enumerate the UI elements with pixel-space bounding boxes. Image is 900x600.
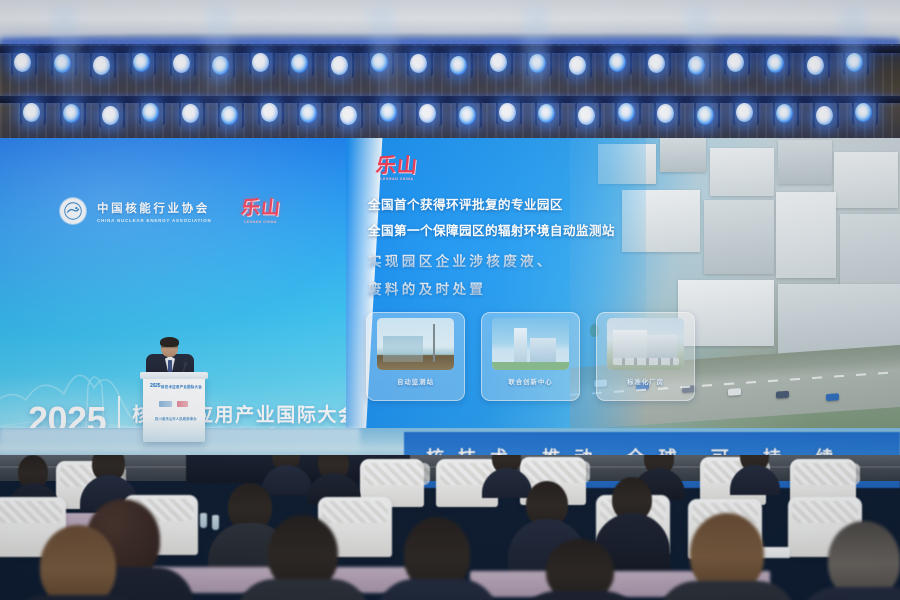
podium-and-speaker: 2025 核技术应用产业国际大会 四川省乐山市人民政府承办 [128, 338, 224, 442]
truss-bar-lower [0, 96, 900, 103]
stage-lamp [142, 103, 159, 122]
lectern-logo-leshan [177, 401, 188, 407]
leshan-logo-cn: 乐山 [240, 199, 282, 218]
thumbnail-image-monitoring-station [377, 318, 454, 370]
right-led-screen-slide: 乐山 LESHAN CHINA 全国首个获得环评批复的专业园区 全国第一个保障园… [346, 138, 900, 430]
stage-lamp [133, 53, 150, 72]
stage-lamp [93, 56, 110, 75]
thumbnail-caption: 标准化厂房 [627, 377, 664, 386]
cnea-emblem-icon [60, 198, 86, 224]
stage-lamp [459, 106, 476, 125]
slide-headline-group: 全国首个获得环评批复的专业园区 全国第一个保障园区的辐射环境自动监测站 [368, 194, 615, 239]
slide-subheadline-group: 实现园区企业涉核废液、 废料的及时处置 [368, 250, 554, 298]
stage-lamp [816, 106, 833, 125]
stage-lamp [23, 103, 40, 122]
stage-lamp [252, 53, 269, 72]
stage-lamp [261, 103, 278, 122]
slide-headline-1: 全国首个获得环评批复的专业园区 [368, 194, 615, 213]
slide-thumbnail-row: 自动监测站 联合创新中心 标准化厂房 [366, 312, 695, 401]
stage-lamp [499, 103, 516, 122]
leshan-city-logo: 乐山 LESHAN CHINA [234, 192, 288, 230]
lectern: 2025 核技术应用产业国际大会 四川省乐山市人民政府承办 [143, 376, 205, 442]
stage-lamp [618, 103, 635, 122]
stage-lamp [63, 104, 80, 123]
stage-lamp [173, 54, 190, 73]
organizer-name-cn: 中国核能行业协会 [97, 200, 212, 216]
thumbnail-image-standard-factory [607, 318, 684, 370]
speaker-tie [168, 360, 172, 372]
stage-lamp [807, 56, 824, 75]
slide-leshan-logo-cn: 乐山 [375, 155, 419, 175]
stage-lamp [380, 103, 397, 122]
lectern-title-cn: 核技术应用产业国际大会 [161, 384, 202, 389]
slide-subheadline-1: 实现园区企业涉核废液、 [368, 250, 554, 270]
water-bottle [212, 515, 219, 530]
title-divider [118, 396, 120, 430]
stage-lamp [182, 104, 199, 123]
conference-year: 2025 [28, 404, 106, 430]
audience-area [0, 455, 900, 600]
speaker-hair [160, 337, 179, 347]
stage-lamp [697, 106, 714, 125]
organizer-name-en: CHINA NUCLEAR ENERGY ASSOCIATION [97, 218, 212, 223]
slide-thumbnail: 自动监测站 [366, 312, 465, 401]
organizer-brand-row: 中国核能行业协会 CHINA NUCLEAR ENERGY ASSOCIATIO… [60, 186, 285, 236]
thumbnail-caption: 自动监测站 [397, 377, 434, 386]
lectern-year: 2025 [150, 383, 160, 389]
slide-subheadline-2: 废料的及时处置 [368, 278, 554, 298]
slide-thumbnail: 标准化厂房 [596, 312, 695, 401]
stage-lamp [490, 53, 507, 72]
stage-lamp [102, 106, 119, 125]
lectern-logo-cnea [159, 401, 172, 407]
thumbnail-caption: 联合创新中心 [508, 377, 552, 386]
slide-leshan-logo-sub: LESHAN CHINA [380, 177, 413, 181]
stage-lamp [340, 106, 357, 125]
stage-lamp [450, 56, 467, 75]
stage-lamp [221, 106, 238, 125]
lectern-subline: 四川省乐山市人民政府承办 [155, 416, 197, 421]
slide-headline-2: 全国第一个保障园区的辐射环境自动监测站 [368, 220, 615, 239]
stage-lamp [14, 53, 31, 72]
stage-lamp [569, 56, 586, 75]
leshan-logo-sub: LESHAN CHINA [244, 220, 277, 224]
slide-thumbnail: 联合创新中心 [481, 312, 580, 401]
conference-stage-photo: 中国核能行业协会 CHINA NUCLEAR ENERGY ASSOCIATIO… [0, 0, 900, 600]
name-card [760, 547, 790, 558]
lectern-logo-pair [159, 400, 189, 407]
thumbnail-image-innovation-center [492, 318, 569, 370]
stage-lamp [331, 56, 348, 75]
stage-lamp [578, 106, 595, 125]
slide-leshan-logo: 乐山 LESHAN CHINA [368, 148, 426, 188]
water-bottle [200, 513, 207, 528]
stage-lamp [609, 53, 626, 72]
